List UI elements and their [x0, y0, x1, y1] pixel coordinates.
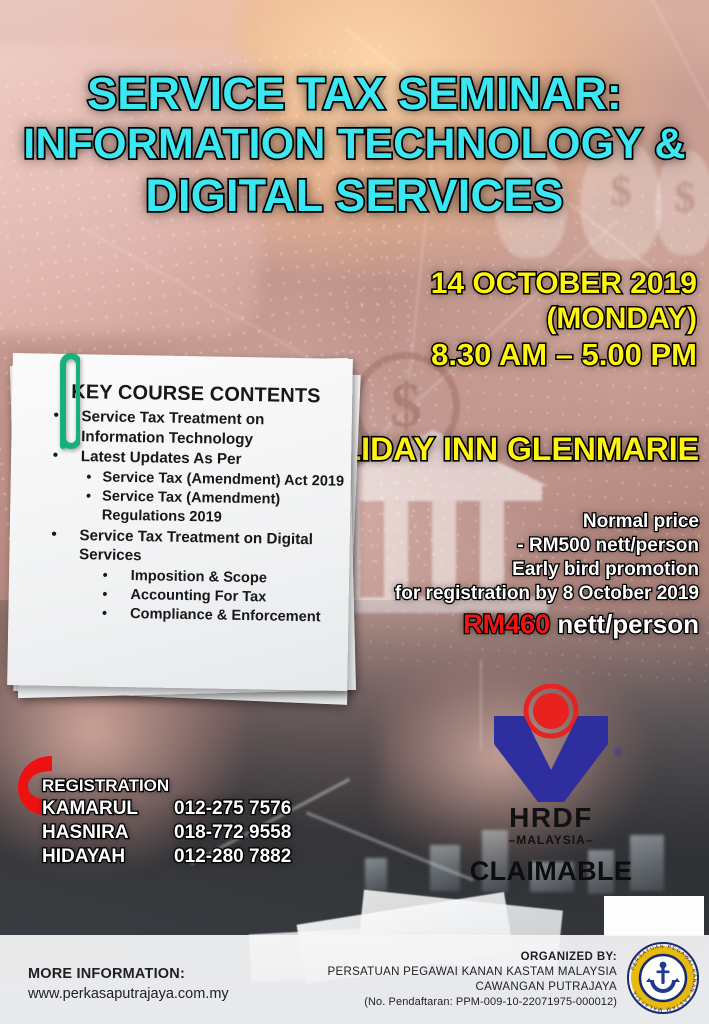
- course-heading: KEY COURSE CONTENTS: [44, 379, 348, 408]
- early-bird-unit: nett/person: [557, 609, 699, 639]
- paperclip-icon: [58, 342, 80, 452]
- key-course-contents-card: KEY COURSE CONTENTS Service Tax Treatmen…: [6, 354, 366, 704]
- course-item: Service Tax Treatment on Information Tec…: [45, 407, 348, 451]
- contact-phone[interactable]: 012-280 7882: [174, 845, 291, 869]
- contact-name: HIDAYAH: [42, 845, 174, 869]
- website-link[interactable]: www.perkasaputrajaya.com.my: [28, 984, 229, 1004]
- contact-name: HASNIRA: [42, 821, 174, 845]
- title-line-1: SERVICE TAX SEMINAR:: [0, 68, 709, 119]
- registration-heading: REGISTRATION: [42, 774, 342, 797]
- more-information-block: MORE INFORMATION: www.perkasaputrajaya.c…: [28, 965, 229, 1004]
- organizer-registration-number: (No. Pendaftaran: PPM-009-10-22071975-00…: [328, 995, 617, 1010]
- contact-name: KAMARUL: [42, 797, 174, 821]
- course-item: Service Tax Treatment on Digital Service…: [42, 525, 346, 627]
- organizer-seal-icon: PERSATUAN PEGAWAI KANAN KASTAM MALAYSIA: [625, 940, 701, 1016]
- contact-phone[interactable]: 012-275 7576: [174, 797, 291, 821]
- poster-title: SERVICE TAX SEMINAR: INFORMATION TECHNOL…: [0, 68, 709, 221]
- organized-by-label: ORGANIZED BY:: [328, 950, 617, 965]
- svg-text:®: ®: [614, 747, 622, 759]
- organizer-name-line-1: PERSATUAN PEGAWAI KANAN KASTAM MALAYSIA: [328, 965, 617, 980]
- more-information-label: MORE INFORMATION:: [28, 965, 229, 984]
- course-subitem: Compliance & Enforcement: [78, 604, 344, 628]
- registration-contact-row: HASNIRA 018-772 9558: [42, 821, 342, 845]
- course-item-label: Latest Updates As Per: [81, 448, 242, 468]
- course-sublist: Service Tax (Amendment) Act 2019 Service…: [80, 468, 347, 530]
- registration-contact-row: HIDAYAH 012-280 7882: [42, 845, 342, 869]
- white-placeholder-box: [604, 896, 704, 936]
- contact-phone[interactable]: 018-772 9558: [174, 821, 291, 845]
- registration-contact-row: KAMARUL 012-275 7576: [42, 797, 342, 821]
- event-date: 14 OCTOBER 2019: [177, 266, 697, 301]
- hrdf-block: ® HRDF –MALAYSIA– CLAIMABLE: [446, 684, 656, 887]
- poster: $ $ $ SERVICE TAX SEMINAR:: [0, 0, 709, 1024]
- background-device-block: [365, 858, 387, 892]
- course-subitem: Service Tax (Amendment) Regulations 2019: [80, 487, 347, 530]
- hrdf-wordmark: HRDF: [446, 803, 656, 833]
- early-bird-amount: RM460: [463, 609, 550, 639]
- hrdf-claimable-label: CLAIMABLE: [446, 855, 656, 887]
- course-item: Latest Updates As Per Service Tax (Amend…: [44, 447, 347, 530]
- event-day: (MONDAY): [177, 301, 697, 336]
- organizer-name-line-2: CAWANGAN PUTRAJAYA: [328, 980, 617, 995]
- organizer-block: ORGANIZED BY: PERSATUAN PEGAWAI KANAN KA…: [328, 950, 617, 1010]
- title-line-3: DIGITAL SERVICES: [0, 170, 709, 221]
- hrdf-logo-icon: ®: [476, 684, 626, 802]
- course-item-label: Service Tax Treatment on Digital Service…: [79, 527, 313, 565]
- course-sublist: Imposition & Scope Accounting For Tax Co…: [78, 566, 345, 628]
- registration-block: REGISTRATION KAMARUL 012-275 7576 HASNIR…: [42, 774, 342, 869]
- course-item-label: Service Tax Treatment on Information Tec…: [81, 408, 264, 447]
- hrdf-sub-label: –MALAYSIA–: [446, 833, 656, 847]
- title-line-2: INFORMATION TECHNOLOGY &: [0, 119, 709, 170]
